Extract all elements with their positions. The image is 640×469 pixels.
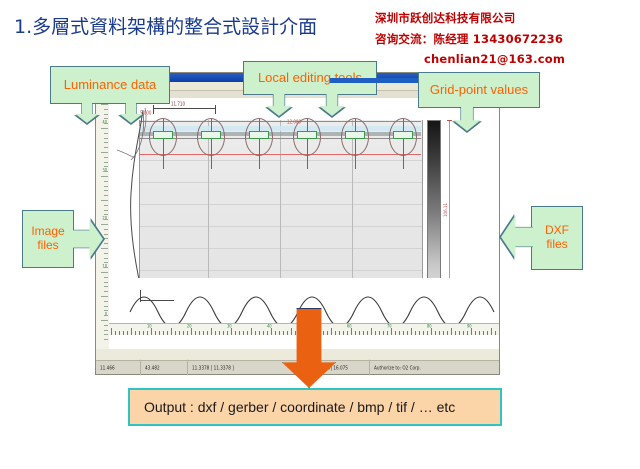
callout-dxf-files-arrow: [501, 216, 533, 259]
ruler-h-label: 70: [387, 323, 392, 328]
callout-image-files-line2: files: [37, 239, 58, 253]
wave-dimension-line: [140, 300, 174, 301]
company-name: 深圳市跃创达科技有限公司: [375, 10, 635, 26]
ruler-h-label: 30: [227, 323, 232, 328]
vertical-ruler: 40 30 20 10 0: [96, 98, 110, 349]
status-coord-x: 11.466: [96, 360, 141, 376]
callout-luminance-data[interactable]: Luminance data: [50, 66, 170, 104]
slide-root: 1.多層式資料架構的整合式設計介面 深圳市跃创达科技有限公司 咨询交流：陈经理 …: [0, 0, 640, 469]
ruler-h-label: 90: [467, 323, 472, 328]
output-box[interactable]: Output : dxf / gerber / coordinate / bmp…: [128, 388, 502, 426]
ruler-h-label: 10: [147, 323, 152, 328]
wave-dimension-tick: [140, 290, 141, 302]
ruler-h-label: 80: [427, 323, 432, 328]
output-label: Output : dxf / gerber / coordinate / bmp…: [144, 399, 455, 415]
vertical-dimension-label: 106.11: [443, 203, 448, 217]
company-info: 深圳市跃创达科技有限公司 咨询交流：陈经理 13430672236 chenli…: [375, 10, 635, 66]
status-license: Authorize to: O2 Corp.: [370, 360, 499, 376]
callout-grid-points-label: Grid-point values: [430, 83, 528, 98]
callout-luminance-label: Luminance data: [64, 78, 157, 93]
callout-image-files[interactable]: Image files: [22, 210, 74, 268]
page-title: 1.多層式資料架構的整合式設計介面: [14, 12, 317, 39]
ruler-h-label: 40: [267, 323, 272, 328]
company-contact: 咨询交流：陈经理 13430672236: [375, 31, 635, 47]
callout-image-files-line1: Image: [31, 225, 64, 239]
callout-dxf-files-line2: files: [546, 238, 567, 252]
callout-grid-point-values[interactable]: Grid-point values: [418, 72, 540, 108]
ruler-h-label: 20: [187, 323, 192, 328]
company-email: chenlian21@163.com: [424, 52, 635, 66]
ruler-h-label: 60: [347, 323, 352, 328]
callout-dxf-files[interactable]: DXF files: [531, 206, 583, 270]
connector-grid-points: [330, 78, 422, 83]
status-coord-y: 43.482: [141, 360, 188, 376]
callout-dxf-files-line1: DXF: [545, 224, 569, 238]
